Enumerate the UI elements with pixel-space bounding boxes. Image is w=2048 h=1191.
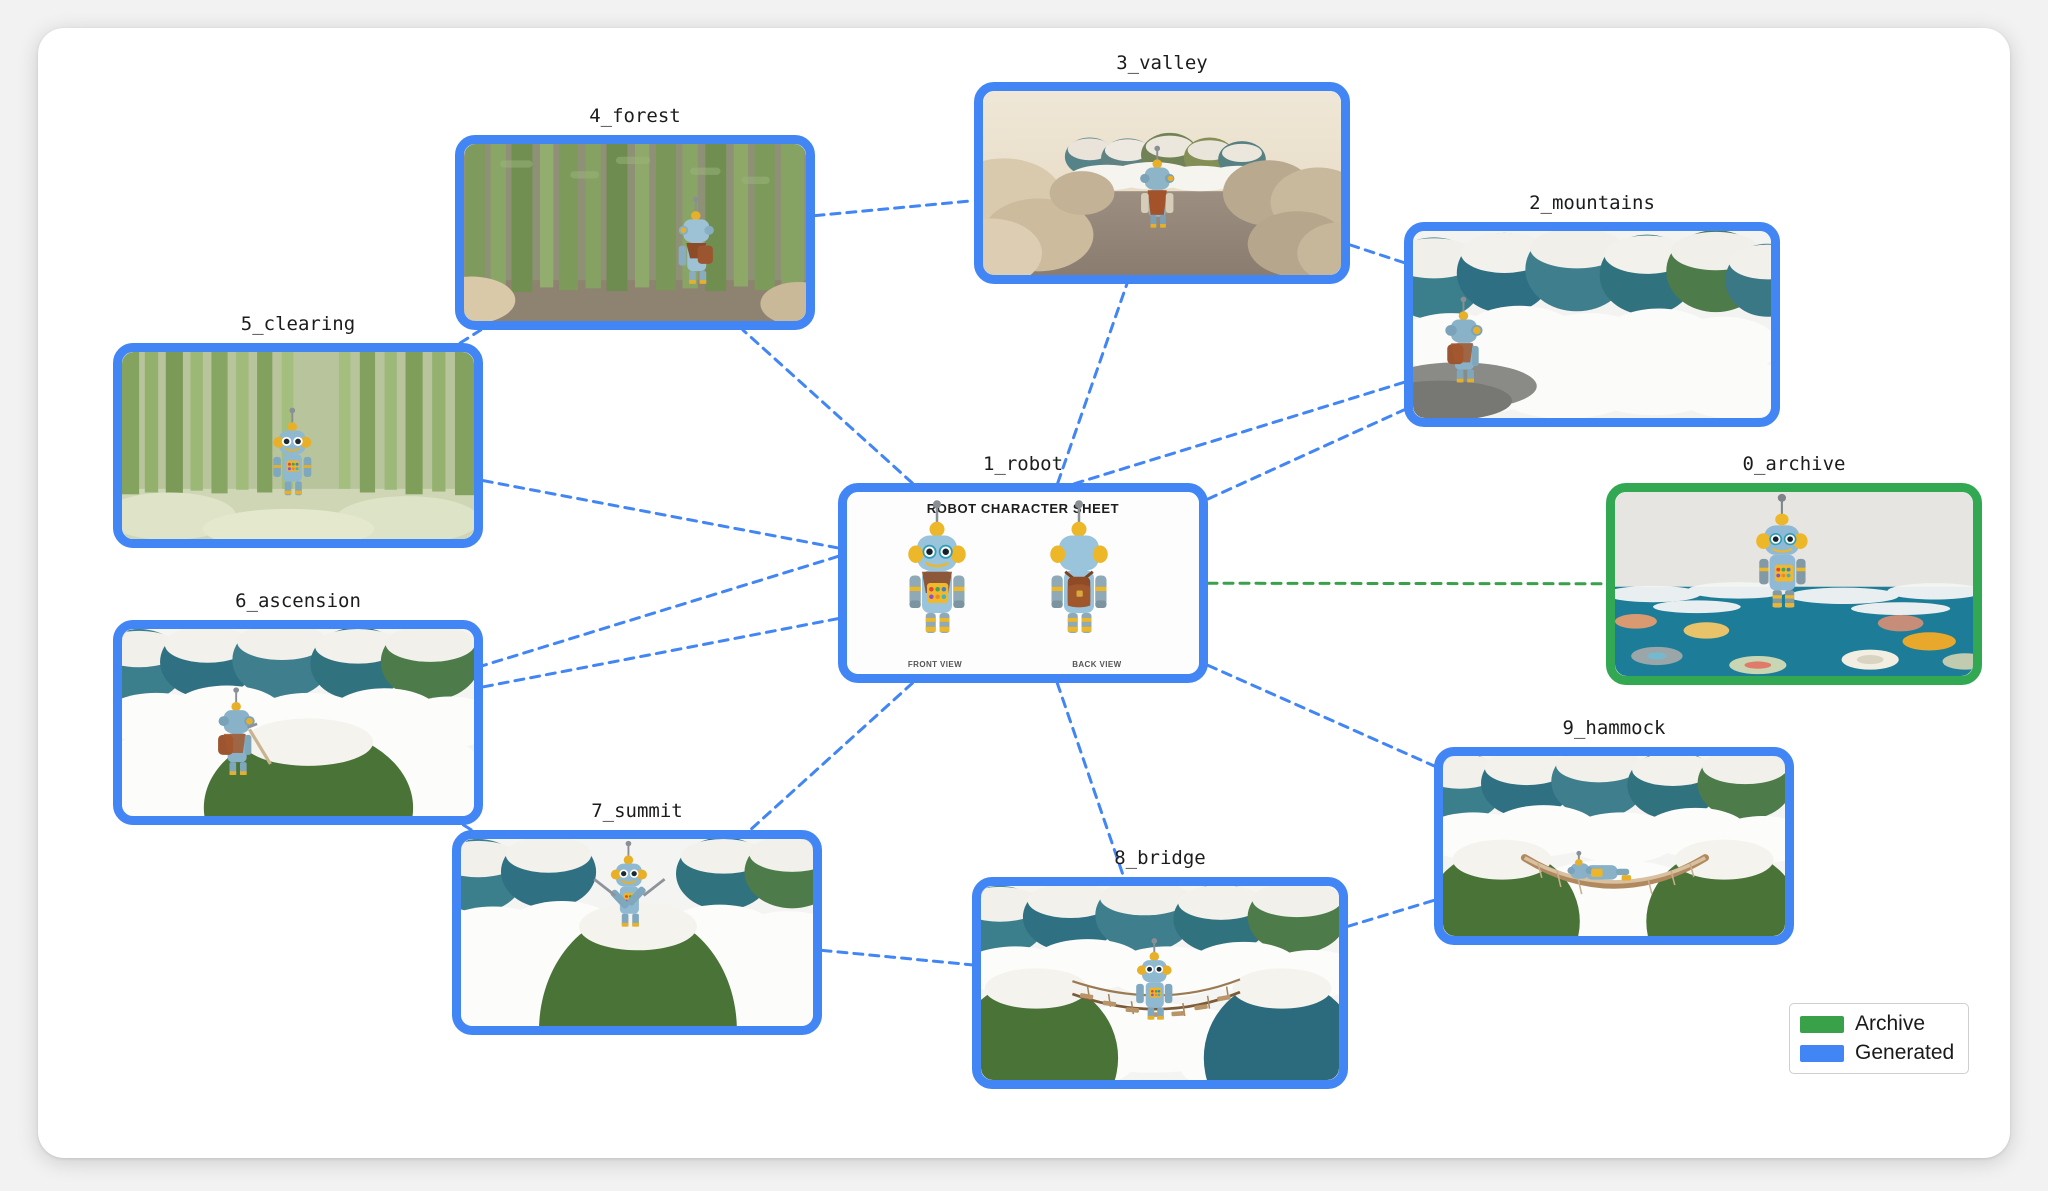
graph-node-4-forest[interactable]: 4_forest: [455, 105, 815, 330]
node-label-9-hammock: 9_hammock: [1434, 717, 1794, 739]
legend-item-generated: Generated: [1800, 1041, 1954, 1065]
node-label-0-archive: 0_archive: [1606, 453, 1982, 475]
node-label-1-robot: 1_robot: [838, 453, 1208, 475]
legend-item-archive: Archive: [1800, 1012, 1954, 1036]
node-image-4-forest: [464, 144, 806, 321]
node-frame-5-clearing[interactable]: [113, 343, 483, 548]
node-frame-2-mountains[interactable]: [1404, 222, 1780, 427]
node-frame-0-archive[interactable]: [1606, 483, 1982, 685]
character-sheet: ROBOT CHARACTER SHEET: [847, 492, 1199, 674]
graph-node-7-summit[interactable]: 7_summit: [452, 800, 822, 1035]
legend-swatch-archive: [1800, 1016, 1844, 1033]
node-image-3-valley: [983, 91, 1341, 275]
node-label-8-bridge: 8_bridge: [972, 847, 1348, 869]
node-image-0-archive: [1615, 492, 1973, 676]
graph-node-3-valley[interactable]: 3_valley: [974, 52, 1350, 284]
graph-node-2-mountains[interactable]: 2_mountains: [1404, 192, 1780, 427]
node-frame-7-summit[interactable]: [452, 830, 822, 1035]
node-label-7-summit: 7_summit: [452, 800, 822, 822]
node-frame-6-ascension[interactable]: [113, 620, 483, 825]
node-image-7-summit: [461, 839, 813, 1026]
node-image-9-hammock: [1443, 756, 1785, 936]
graph-canvas: 3_valley: [0, 0, 2048, 1191]
node-image-2-mountains: [1413, 231, 1771, 418]
character-sheet-back-caption: BACK VIEW: [1044, 660, 1150, 669]
node-frame-1-robot[interactable]: ROBOT CHARACTER SHEET: [838, 483, 1208, 683]
node-image-5-clearing: [122, 352, 474, 539]
node-frame-9-hammock[interactable]: [1434, 747, 1794, 945]
graph-node-0-archive[interactable]: 0_archive: [1606, 453, 1982, 685]
graph-node-9-hammock[interactable]: 9_hammock: [1434, 717, 1794, 945]
node-label-2-mountains: 2_mountains: [1404, 192, 1780, 214]
node-image-8-bridge: [981, 886, 1339, 1080]
character-sheet-front-caption: FRONT VIEW: [882, 660, 988, 669]
graph-node-5-clearing[interactable]: 5_clearing: [113, 313, 483, 548]
node-label-6-ascension: 6_ascension: [113, 590, 483, 612]
legend-label-generated: Generated: [1855, 1041, 1954, 1065]
node-label-3-valley: 3_valley: [974, 52, 1350, 74]
node-frame-4-forest[interactable]: [455, 135, 815, 330]
graph-node-1-robot[interactable]: 1_robot ROBOT CHARACTER SHEET: [838, 453, 1208, 683]
node-frame-3-valley[interactable]: [974, 82, 1350, 284]
legend: Archive Generated: [1789, 1003, 1969, 1074]
legend-label-archive: Archive: [1855, 1012, 1925, 1036]
node-image-1-robot: ROBOT CHARACTER SHEET: [847, 492, 1199, 674]
legend-swatch-generated: [1800, 1045, 1844, 1062]
node-frame-8-bridge[interactable]: [972, 877, 1348, 1089]
graph-node-8-bridge[interactable]: 8_bridge: [972, 847, 1348, 1089]
node-image-6-ascension: [122, 629, 474, 816]
node-label-4-forest: 4_forest: [455, 105, 815, 127]
graph-node-6-ascension[interactable]: 6_ascension: [113, 590, 483, 825]
node-label-5-clearing: 5_clearing: [113, 313, 483, 335]
